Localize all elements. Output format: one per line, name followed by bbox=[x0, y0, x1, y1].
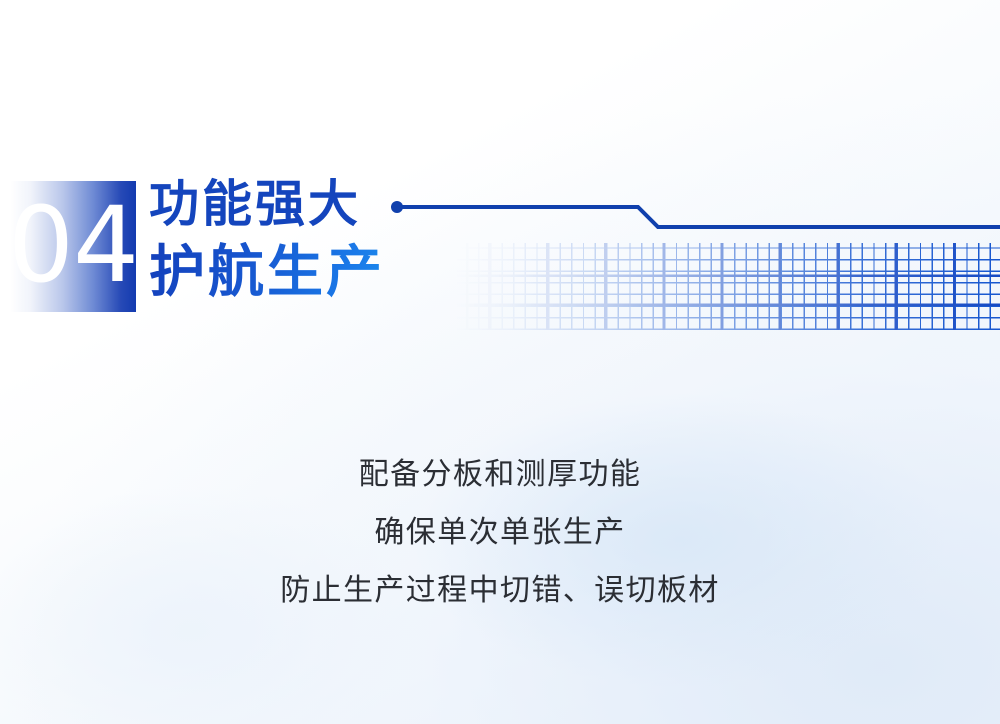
connector-path bbox=[397, 207, 1000, 227]
connector-line bbox=[380, 190, 1000, 240]
headline-group: 04 功能强大 护航生产 bbox=[0, 0, 1000, 340]
section-number-text: 04 bbox=[10, 181, 136, 312]
body-line-1: 配备分板和测厚功能 bbox=[0, 446, 1000, 504]
body-line-3: 防止生产过程中切错、误切板材 bbox=[0, 562, 1000, 620]
connector-dot bbox=[391, 201, 403, 213]
slide-canvas: 04 功能强大 护航生产 配备分板和测厚功能 确保单次单张生产 防止生产过程中切… bbox=[0, 0, 1000, 724]
section-number-badge: 04 bbox=[10, 181, 136, 312]
body-copy: 配备分板和测厚功能 确保单次单张生产 防止生产过程中切错、误切板材 bbox=[0, 446, 1000, 620]
body-line-2: 确保单次单张生产 bbox=[0, 504, 1000, 562]
title-line-secondary: 护航生产 bbox=[149, 242, 569, 302]
